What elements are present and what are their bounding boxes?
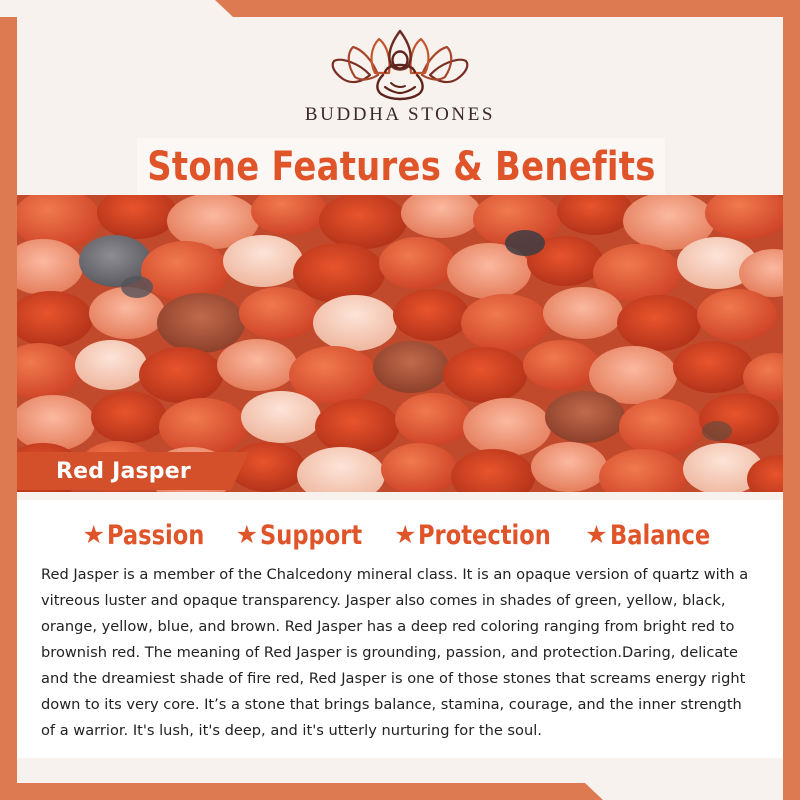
- product-name-label: Red Jasper: [56, 459, 191, 484]
- brand-name: BUDDHA STONES: [305, 104, 495, 126]
- content-panel: ★ Passion ★ Support ★ Protection ★ Balan…: [17, 500, 783, 758]
- product-name-ribbon: Red Jasper: [17, 452, 249, 490]
- benefits-row: ★ Passion ★ Support ★ Protection ★ Balan…: [39, 520, 761, 551]
- frame-left-bar: [0, 17, 17, 800]
- benefit-item-support: ★ Support: [236, 520, 370, 551]
- product-photo: [17, 195, 783, 492]
- frame-top-bar: [0, 0, 800, 17]
- star-icon: ★: [236, 523, 258, 548]
- page-title: Stone Features & Benefits: [147, 144, 655, 190]
- benefit-item-passion: ★ Passion: [83, 520, 212, 551]
- benefit-item-balance: ★ Balance: [585, 520, 717, 551]
- benefit-label: Passion: [107, 520, 204, 551]
- lotus-meditation-icon: [325, 25, 475, 103]
- title-band: Stone Features & Benefits: [137, 138, 665, 195]
- benefit-label: Protection: [418, 520, 551, 551]
- description-paragraph: Red Jasper is a member of the Chalcedony…: [39, 562, 761, 744]
- benefit-item-protection: ★ Protection: [394, 520, 561, 551]
- star-icon: ★: [585, 523, 607, 548]
- star-icon: ★: [394, 523, 416, 548]
- benefit-label: Support: [260, 520, 362, 551]
- frame-right-bar: [783, 0, 800, 800]
- benefit-label: Balance: [610, 520, 710, 551]
- brand-header: BUDDHA STONES: [17, 17, 783, 138]
- star-icon: ★: [83, 523, 105, 548]
- poster-root: BUDDHA STONES Stone Features & Benefits: [0, 0, 800, 800]
- frame-bottom-bar: [0, 783, 800, 800]
